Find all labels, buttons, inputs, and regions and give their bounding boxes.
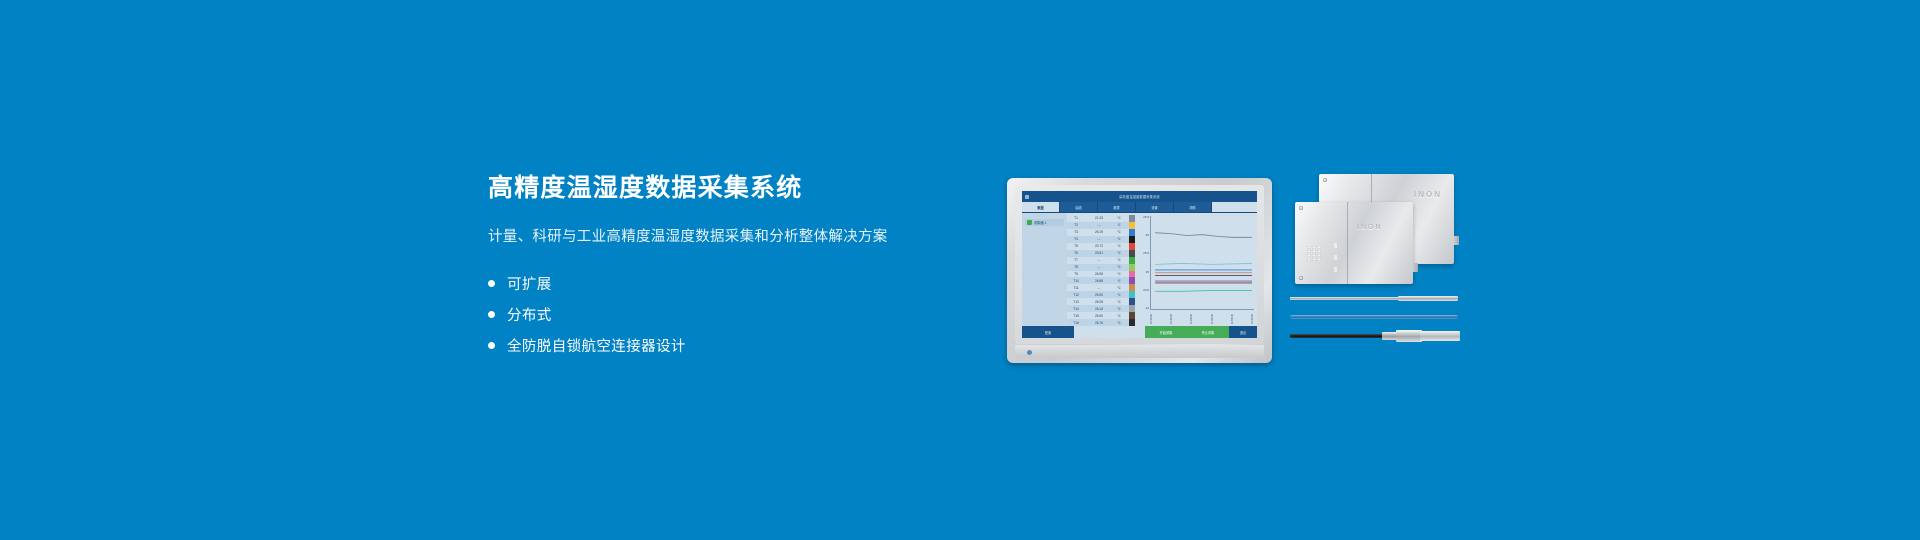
device-tree-node[interactable]: 采集器-1	[1025, 219, 1064, 226]
port-slot	[1333, 254, 1338, 261]
list-item: 全防脱自锁航空连接器设计	[488, 330, 948, 361]
list-item: 分布式	[488, 299, 948, 330]
channel-value: 26.19	[1085, 230, 1113, 234]
bullet-dot-icon	[488, 280, 495, 287]
channel-value: 21.33	[1085, 216, 1113, 220]
x-tick: 11:32:00	[1211, 310, 1214, 324]
table-row: T1526.90℃	[1067, 312, 1129, 319]
x-tick: 12:20:00	[1251, 310, 1254, 324]
screw-icon	[1299, 206, 1303, 210]
screw-icon	[1323, 178, 1327, 182]
device-node-icon	[1027, 220, 1032, 225]
x-tick: 11:56:00	[1231, 310, 1234, 324]
feature-list: 可扩展 分布式 全防脱自锁航空连接器设计	[488, 268, 948, 361]
tab-settings[interactable]: 设置	[1136, 202, 1174, 212]
app-footer: 配置 开始采集 停止采集 退出	[1022, 326, 1257, 338]
table-row: T1626.76℃	[1067, 319, 1129, 326]
channel-name: T2	[1067, 223, 1085, 227]
table-row: T2---℃	[1067, 222, 1129, 229]
tab-help[interactable]: 帮助	[1174, 202, 1212, 212]
x-tick: 11:08:00	[1190, 310, 1193, 324]
channel-name: T9	[1067, 272, 1085, 276]
table-row: T11---℃	[1067, 284, 1129, 291]
channel-name: T7	[1067, 258, 1085, 262]
app-body: 采集器-1 T121.33℃ T2---℃ T326.19℃ T4---℃ T5…	[1022, 213, 1257, 326]
data-acquisition-box-front: INON	[1295, 202, 1413, 284]
channel-value: 20.72	[1085, 244, 1113, 248]
chart-plot-area	[1150, 216, 1254, 310]
table-row: T8---℃	[1067, 264, 1129, 271]
table-row: T520.72℃	[1067, 243, 1129, 250]
bullet-dot-icon	[488, 342, 495, 349]
brand-logo: INON	[1414, 190, 1442, 199]
page-title: 高精度温湿度数据采集系统	[488, 175, 948, 203]
channel-unit: ℃	[1113, 244, 1125, 248]
power-led-icon	[1027, 350, 1032, 355]
chart-x-axis: 10:20:00 10:44:00 11:08:00 11:32:00 11:5…	[1150, 310, 1254, 324]
tab-bar-filler	[1212, 202, 1257, 212]
feature-label: 分布式	[507, 304, 552, 325]
probe-cable	[1290, 334, 1386, 338]
channel-name: T4	[1067, 237, 1085, 241]
channel-unit: ℃	[1113, 223, 1125, 227]
humidity-probe	[1290, 330, 1460, 342]
table-row: T1426.15℃	[1067, 305, 1129, 312]
feature-label: 全防脱自锁航空连接器设计	[507, 335, 686, 356]
probe-sensor-head	[1420, 331, 1460, 341]
channel-value: 26.90	[1085, 314, 1113, 318]
channel-name: T13	[1067, 300, 1085, 304]
channel-unit: ℃	[1113, 279, 1125, 283]
port-slot	[1333, 266, 1338, 273]
y-tick: 26	[1146, 233, 1149, 237]
hardware-products: INON INON	[1290, 170, 1470, 370]
y-tick: 24	[1146, 306, 1149, 310]
channel-unit: ℃	[1113, 286, 1125, 290]
y-tick: 25.5	[1143, 251, 1149, 255]
channel-unit: ℃	[1113, 216, 1125, 220]
config-button[interactable]: 配置	[1022, 326, 1074, 338]
channel-value: 26.88	[1085, 279, 1113, 283]
channel-value: 26.15	[1085, 307, 1113, 311]
trend-chart: 26.5 26 25.5 25 24.5 24	[1135, 213, 1257, 326]
marketing-copy: 高精度温湿度数据采集系统 计量、科研与工业高精度温湿度数据采集和分析整体解决方案…	[488, 175, 948, 361]
channel-unit: ℃	[1113, 265, 1125, 269]
table-row: T926.98℃	[1067, 271, 1129, 278]
port-slot	[1333, 242, 1338, 249]
page-subtitle: 计量、科研与工业高精度温湿度数据采集和分析整体解决方案	[488, 225, 948, 246]
probe-barrel	[1396, 330, 1422, 342]
chart-y-axis: 26.5 26 25.5 25 24.5 24	[1137, 215, 1149, 310]
x-tick: 10:44:00	[1170, 310, 1173, 324]
cable-shaft	[1290, 315, 1458, 319]
table-row: T1026.88℃	[1067, 277, 1129, 284]
connector-port	[1452, 236, 1459, 245]
channel-value: 26.98	[1085, 272, 1113, 276]
channel-unit: ℃	[1113, 258, 1125, 262]
table-row: T4---℃	[1067, 236, 1129, 243]
chart-series-svg	[1151, 216, 1254, 309]
channel-unit: ℃	[1113, 300, 1125, 304]
app-title: 高精度温湿度数据采集系统	[1022, 194, 1257, 199]
channel-name: T6	[1067, 251, 1085, 255]
product-monitor: 高精度温湿度数据采集系统 数据 曲线 报表 设置 帮助 采集器-1 T	[1007, 178, 1272, 363]
device-node-label: 采集器-1	[1034, 220, 1046, 225]
probe-tip	[1398, 296, 1458, 301]
y-tick: 26.5	[1143, 215, 1149, 219]
channel-name: T1	[1067, 216, 1085, 220]
app-tab-bar: 数据 曲线 报表 设置 帮助	[1022, 202, 1257, 213]
table-row: T7---℃	[1067, 257, 1129, 264]
channel-name: T10	[1067, 279, 1085, 283]
channel-value: ---	[1085, 237, 1113, 241]
bullet-dot-icon	[488, 311, 495, 318]
screw-icon	[1299, 276, 1303, 280]
channel-table: T121.33℃ T2---℃ T326.19℃ T4---℃ T520.72℃…	[1067, 213, 1129, 326]
channel-unit: ℃	[1113, 314, 1125, 318]
app-title-bar: 高精度温湿度数据采集系统	[1022, 191, 1257, 202]
channel-name: T16	[1067, 321, 1085, 325]
channel-unit: ℃	[1113, 307, 1125, 311]
y-tick: 24.5	[1143, 288, 1149, 292]
channel-value: ---	[1085, 258, 1113, 262]
channel-name: T12	[1067, 293, 1085, 297]
stop-acquisition-button[interactable]: 停止采集	[1187, 326, 1229, 338]
channel-value: ---	[1085, 265, 1113, 269]
table-row: T1225.90℃	[1067, 291, 1129, 298]
start-acquisition-button[interactable]: 开始采集	[1145, 326, 1187, 338]
channel-value: 20.61	[1085, 251, 1113, 255]
channel-value: ---	[1085, 286, 1113, 290]
footer-spacer	[1074, 326, 1145, 338]
table-row: T1326.28℃	[1067, 298, 1129, 305]
exit-button[interactable]: 退出	[1229, 326, 1257, 338]
temperature-probe	[1290, 296, 1458, 301]
table-row: T620.61℃	[1067, 250, 1129, 257]
table-row: T121.33℃	[1067, 215, 1129, 222]
channel-name: T3	[1067, 230, 1085, 234]
channel-name: T8	[1067, 265, 1085, 269]
tab-curve[interactable]: 曲线	[1060, 202, 1098, 212]
table-row: T326.19℃	[1067, 229, 1129, 236]
brand-logo: INON	[1357, 224, 1383, 231]
channel-unit: ℃	[1113, 293, 1125, 297]
channel-unit: ℃	[1113, 251, 1125, 255]
probe-shaft	[1290, 297, 1402, 300]
blue-cable-probe	[1290, 315, 1458, 319]
connector-port	[1411, 263, 1418, 272]
tab-data[interactable]: 数据	[1022, 202, 1060, 212]
channel-value: ---	[1085, 223, 1113, 227]
tab-report[interactable]: 报表	[1098, 202, 1136, 212]
channel-name: T14	[1067, 307, 1085, 311]
y-tick: 25	[1146, 270, 1149, 274]
channel-value: 25.90	[1085, 293, 1113, 297]
channel-unit: ℃	[1113, 237, 1125, 241]
channel-value: 26.28	[1085, 300, 1113, 304]
channel-value: 26.76	[1085, 321, 1113, 325]
terminal-pin-grid	[1307, 246, 1321, 261]
x-tick: 10:20:00	[1150, 310, 1153, 324]
monitor-screen: 高精度温湿度数据采集系统 数据 曲线 报表 设置 帮助 采集器-1 T	[1022, 191, 1257, 338]
device-tree-panel: 采集器-1	[1022, 213, 1067, 326]
channel-unit: ℃	[1113, 230, 1125, 234]
channel-name: T5	[1067, 244, 1085, 248]
channel-name: T15	[1067, 314, 1085, 318]
feature-label: 可扩展	[507, 273, 552, 294]
list-item: 可扩展	[488, 268, 948, 299]
channel-name: T11	[1067, 286, 1085, 290]
monitor-chin	[1015, 345, 1264, 358]
channel-unit: ℃	[1113, 321, 1125, 325]
channel-unit: ℃	[1113, 272, 1125, 276]
monitor-bezel: 高精度温湿度数据采集系统 数据 曲线 报表 设置 帮助 采集器-1 T	[1015, 185, 1264, 344]
